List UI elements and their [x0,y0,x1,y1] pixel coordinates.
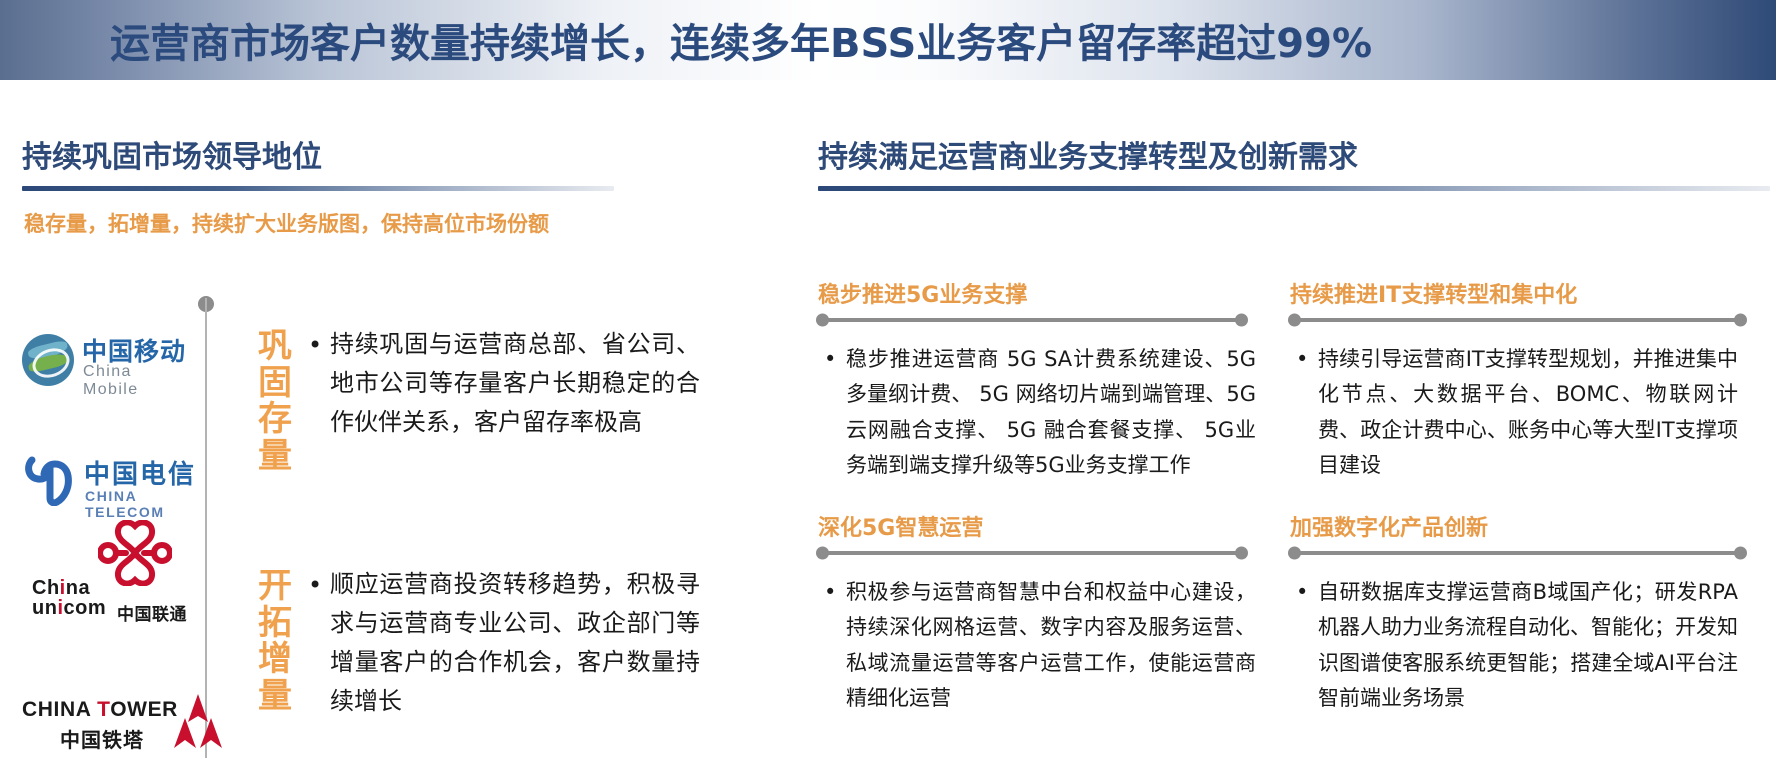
china-tower-emblem-icon [170,692,226,748]
china-telecom-emblem-icon [22,452,78,506]
card-5g-smart-operations: 深化5G智慧运营 • 积极参与运营商智慧中台和权益中心建设，持续深化网格运营、数… [818,510,1270,716]
card-title: 稳步推进5G业务支撑 [818,277,1270,309]
card-body-text: 积极参与运营商智慧中台和权益中心建设，持续深化网格运营、数字内容及服务运营、私域… [846,580,1256,710]
left-column-heading-rule [22,186,614,191]
china-unicom-en-text: China unicom [32,578,106,619]
bullet-glyph: • [308,326,322,365]
card-title: 深化5G智慧运营 [818,510,1270,542]
bullet-glyph: • [824,342,836,377]
card-rule-with-dots-icon [818,318,1246,322]
card-title: 加强数字化产品创新 [1290,510,1770,542]
left-bullet-item: • 持续巩固与运营商总部、省公司、地市公司等存量客户长期稳定的合作伙伴关系，客户… [330,325,700,442]
china-tower-cn-text: 中国铁塔 [60,724,144,753]
bullet-glyph: • [1296,342,1308,377]
card-rule-with-dots-icon [1290,318,1745,322]
card-body-text: 稳步推进运营商 5G SA计费系统建设、5G多量纲计费、 5G 网络切片端到端管… [846,347,1256,477]
card-body: • 自研数据库支撑运营商B域国产化；研发RPA机器人助力业务流程自动化、智能化；… [1318,575,1738,716]
left-column-subheading: 稳存量，拓增量，持续扩大业务版图，保持高位市场份额 [24,208,549,238]
bullet-glyph: • [1296,575,1308,610]
card-5g-business-support: 稳步推进5G业务支撑 • 稳步推进运营商 5G SA计费系统建设、5G多量纲计费… [818,277,1270,483]
left-column-heading: 持续巩固市场领导地位 [22,132,614,191]
left-bullet-text: 顺应运营商投资转移趋势，积极寻求与运营商专业公司、政企部门等增量客户的合作机会，… [330,570,700,715]
vertical-label-consolidate: 巩固存量 [252,328,298,475]
right-column-heading-rule [818,186,1770,191]
card-it-support-transformation: 持续推进IT支撑转型和集中化 • 持续引导运营商IT支撑转型规划，并推进集中化节… [1290,277,1770,483]
timeline-vertical-line [205,298,207,758]
left-bullet-item: • 顺应运营商投资转移趋势，积极寻求与运营商专业公司、政企部门等增量客户的合作机… [330,565,700,721]
logo-china-telecom: 中国电信 CHINA TELECOM [22,450,200,516]
china-telecom-cn-text: 中国电信 [84,454,196,491]
bullet-glyph: • [824,575,836,610]
card-rule-with-dots-icon [818,551,1246,555]
header-banner: 运营商市场客户数量持续增长，连续多年BSS业务客户留存率超过99% [0,0,1776,80]
china-mobile-en-text: China Mobile [83,363,192,399]
china-unicom-en-line2: unicom [32,597,106,619]
card-body: • 稳步推进运营商 5G SA计费系统建设、5G多量纲计费、 5G 网络切片端到… [846,342,1256,483]
card-body-text: 持续引导运营商IT支撑转型规划，并推进集中化节点、大数据平台、BOMC、物联网计… [1318,347,1738,477]
card-digital-product-innovation: 加强数字化产品创新 • 自研数据库支撑运营商B域国产化；研发RPA机器人助力业务… [1290,510,1770,716]
card-body: • 积极参与运营商智慧中台和权益中心建设，持续深化网格运营、数字内容及服务运营、… [846,575,1256,716]
logo-china-tower: CHINA TOWER 中国铁塔 [22,696,212,754]
logo-china-mobile: 中国移动 China Mobile [22,330,192,396]
china-unicom-emblem-icon [98,520,172,586]
right-column-heading-text: 持续满足运营商业务支撑转型及创新需求 [818,132,1770,176]
china-mobile-emblem-icon [22,334,74,386]
left-bullet-text: 持续巩固与运营商总部、省公司、地市公司等存量客户长期稳定的合作伙伴关系，客户留存… [330,330,700,436]
bullet-glyph: • [308,566,322,605]
china-telecom-en-text: CHINA TELECOM [85,488,200,520]
china-unicom-en-line1: China [32,577,90,599]
card-rule-with-dots-icon [1290,551,1745,555]
card-body: • 持续引导运营商IT支撑转型规划，并推进集中化节点、大数据平台、BOMC、物联… [1318,342,1738,483]
china-unicom-cn-text: 中国联通 [117,600,187,625]
china-tower-en-text: CHINA TOWER [22,698,178,722]
vertical-label-expand: 开拓增量 [252,568,298,715]
card-title: 持续推进IT支撑转型和集中化 [1290,277,1770,309]
card-body-text: 自研数据库支撑运营商B域国产化；研发RPA机器人助力业务流程自动化、智能化；开发… [1318,580,1738,710]
page-title: 运营商市场客户数量持续增长，连续多年BSS业务客户留存率超过99% [110,11,1372,69]
left-column-heading-text: 持续巩固市场领导地位 [22,132,614,176]
logo-china-unicom: China unicom 中国联通 [22,520,202,630]
right-column-heading: 持续满足运营商业务支撑转型及创新需求 [818,132,1770,191]
